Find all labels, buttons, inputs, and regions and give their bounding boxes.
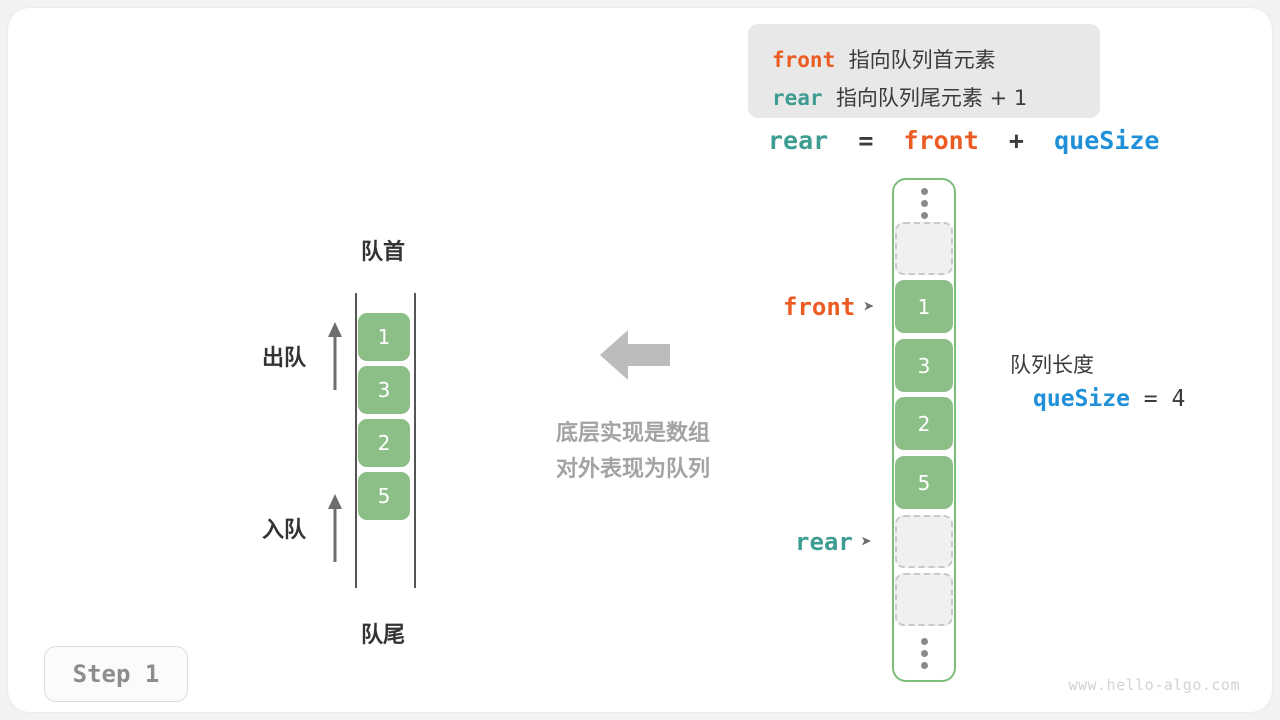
array-slot-empty <box>895 222 953 275</box>
legend-front-term: front <box>772 48 835 72</box>
formula-front: front <box>904 126 979 155</box>
queue-cell: 5 <box>358 472 410 520</box>
queue-cell: 1 <box>358 313 410 361</box>
front-pointer-arrow-icon: ➤ <box>863 298 874 317</box>
array-ellipsis-bottom <box>917 638 931 669</box>
center-note: 底层实现是数组 对外表现为队列 <box>513 416 753 488</box>
front-pointer-label: front <box>783 293 855 321</box>
rear-pointer: rear ➤ <box>795 528 872 556</box>
legend-box: front 指向队列首元素 rear 指向队列尾元素 + 1 <box>748 24 1100 118</box>
legend-front-text: 指向队列首元素 <box>849 48 996 72</box>
queue-rail-left <box>355 293 357 588</box>
diagram-panel: front 指向队列首元素 rear 指向队列尾元素 + 1 rear = fr… <box>8 8 1272 712</box>
array-slot-filled: 5 <box>895 456 953 509</box>
rear-pointer-label: rear <box>795 528 853 556</box>
pointer-formula: rear = front + queSize <box>768 126 1159 155</box>
queue-tail-label: 队尾 <box>303 617 463 649</box>
quesize-equals: = <box>1144 386 1158 412</box>
legend-rear-text: 指向队列尾元素 + 1 <box>836 86 1027 110</box>
front-pointer: front ➤ <box>783 293 875 321</box>
queue-length-title: 队列长度 <box>1010 349 1094 379</box>
legend-line-front: front 指向队列首元素 <box>772 44 996 74</box>
array-slot-filled: 1 <box>895 280 953 333</box>
queue-head-label: 队首 <box>303 234 463 266</box>
queue-cell: 3 <box>358 366 410 414</box>
quesize-number: 4 <box>1172 386 1186 412</box>
array-slot-empty <box>895 515 953 568</box>
formula-equals: = <box>858 126 873 155</box>
legend-rear-term: rear <box>772 86 823 110</box>
left-arrow-icon <box>600 326 670 384</box>
array-slot-empty <box>895 573 953 626</box>
queue-cell: 2 <box>358 419 410 467</box>
canvas-background: front 指向队列首元素 rear 指向队列尾元素 + 1 rear = fr… <box>0 0 1280 720</box>
queue-length-value: queSize = 4 <box>1033 386 1185 412</box>
array-slot-filled: 2 <box>895 397 953 450</box>
enqueue-label: 入队 <box>262 512 306 544</box>
watermark: www.hello-algo.com <box>1068 676 1240 694</box>
step-badge: Step 1 <box>44 646 188 702</box>
formula-plus: + <box>1009 126 1024 155</box>
dequeue-arrow-icon <box>326 320 344 392</box>
queue-rail-right <box>414 293 416 588</box>
dequeue-label: 出队 <box>262 340 306 372</box>
array-ellipsis-top <box>917 188 931 219</box>
center-note-line2: 对外表现为队列 <box>513 452 753 488</box>
rear-pointer-arrow-icon: ➤ <box>861 533 872 552</box>
center-note-line1: 底层实现是数组 <box>513 416 753 452</box>
enqueue-arrow-icon <box>326 492 344 564</box>
array-slot-filled: 3 <box>895 339 953 392</box>
formula-quesize: queSize <box>1054 126 1159 155</box>
formula-rear: rear <box>768 126 828 155</box>
legend-line-rear: rear 指向队列尾元素 + 1 <box>772 82 1027 112</box>
quesize-var: queSize <box>1033 386 1130 412</box>
